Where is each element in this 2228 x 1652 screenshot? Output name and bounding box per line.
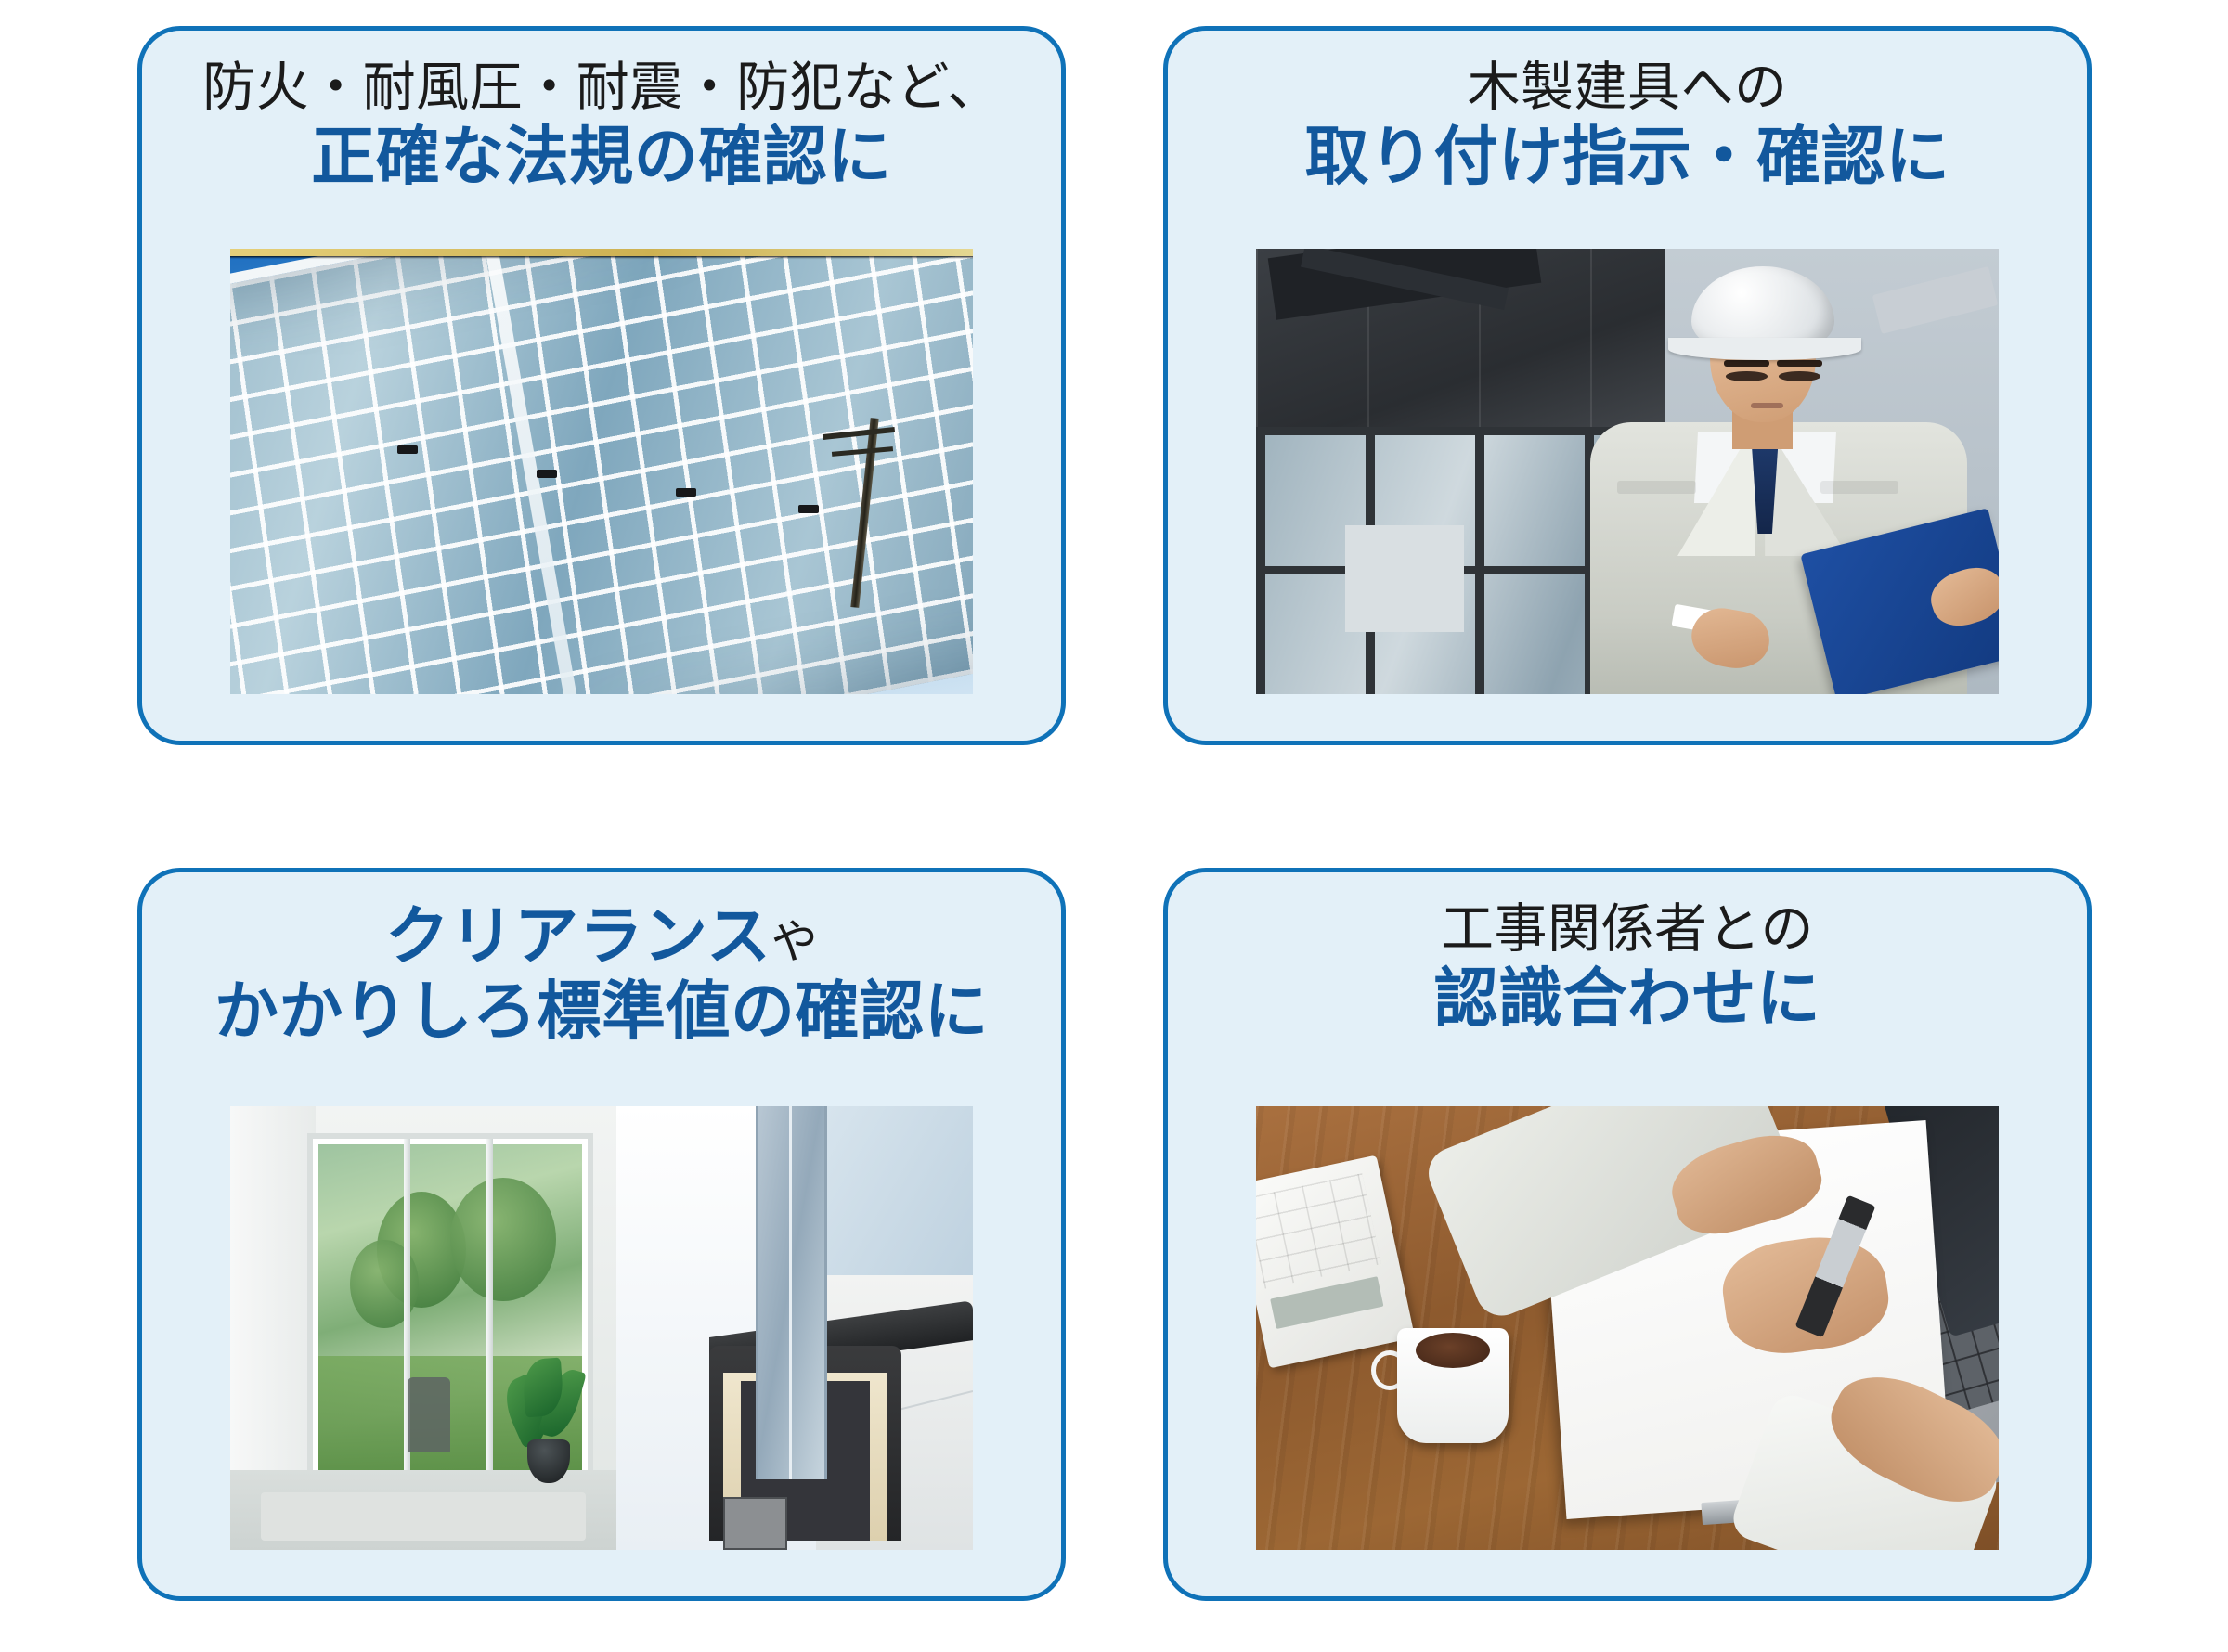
- section-glazing-gap: [789, 1106, 792, 1479]
- card-4-heading: 認識合わせに: [1168, 961, 2087, 1036]
- cards-board: 防火・耐風圧・耐震・防犯など、 正確な法規の確認に: [0, 0, 2228, 1652]
- sky-backdrop: [230, 249, 973, 694]
- insulator: [397, 445, 418, 454]
- card-1-headings: 防火・耐風圧・耐震・防犯など、 正確な法規の確認に: [142, 31, 1061, 195]
- coffee-surface: [1416, 1333, 1490, 1368]
- clearance-reference-image: [230, 1106, 973, 1550]
- jacket-pocket: [1617, 481, 1695, 494]
- card-3-heading-line-1: クリアランスや: [142, 898, 1061, 974]
- card-clearance-standard[interactable]: クリアランスや かかりしろ標準値の確認に: [137, 868, 1066, 1601]
- power-line: [230, 249, 973, 256]
- desk-meeting-image: [1256, 1106, 1999, 1550]
- card-4-subheading: 工事関係者との: [1168, 898, 2087, 961]
- eye: [1726, 371, 1768, 381]
- section-upper-pane: [812, 1106, 973, 1284]
- calculator-keys: [1256, 1173, 1381, 1289]
- frame-cross-section-diagram: [616, 1106, 973, 1550]
- clipboard-clip: [1872, 266, 1999, 334]
- card-3-heading-particle: や: [771, 916, 819, 968]
- card-3-headings: クリアランスや かかりしろ標準値の確認に: [142, 872, 1061, 1050]
- helmet-brim: [1668, 338, 1861, 360]
- interior-sliding-door-photo: [230, 1106, 616, 1550]
- worker-scene: [1256, 249, 1999, 694]
- eyebrow: [1724, 360, 1770, 367]
- outdoor-chair: [408, 1377, 450, 1452]
- card-1-heading: 正確な法規の確認に: [142, 119, 1061, 194]
- card-2-heading: 取り付け指示・確認に: [1168, 119, 2087, 194]
- section-hardware: [723, 1497, 787, 1550]
- card-2-headings: 木製建具への 取り付け指示・確認に: [1168, 31, 2087, 195]
- glass-panel: [1345, 525, 1464, 632]
- door-mullion: [486, 1139, 493, 1491]
- card-3-heading-line-2: かかりしろ標準値の確認に: [142, 974, 1061, 1049]
- eyebrow: [1777, 360, 1823, 367]
- mouth: [1751, 403, 1783, 409]
- insulator: [537, 470, 557, 478]
- card-stakeholder-alignment[interactable]: 工事関係者との 認識合わせに: [1163, 868, 2092, 1601]
- card-3-heading-accent: クリアランス: [385, 900, 771, 972]
- worker-figure: [1553, 249, 1999, 694]
- card-2-subheading: 木製建具への: [1168, 57, 2087, 119]
- eye: [1779, 371, 1820, 381]
- card-fire-wind-quake-crime[interactable]: 防火・耐風圧・耐震・防犯など、 正確な法規の確認に: [137, 26, 1066, 745]
- garden-tree: [450, 1178, 556, 1300]
- wooden-desk-scene: [1256, 1106, 1999, 1550]
- card-1-subheading: 防火・耐風圧・耐震・防犯など、: [142, 57, 1061, 119]
- card-4-headings: 工事関係者との 認識合わせに: [1168, 872, 2087, 1037]
- worker-clipboard-image: [1256, 249, 1999, 694]
- glass-facade: [230, 249, 973, 694]
- floor-rug: [261, 1492, 585, 1542]
- card-wooden-fittings[interactable]: 木製建具への 取り付け指示・確認に: [1163, 26, 2092, 745]
- insulator: [676, 488, 696, 497]
- curtain-wall-highrise-image: [230, 249, 973, 694]
- insulator: [798, 505, 819, 513]
- jacket-pocket: [1820, 481, 1898, 494]
